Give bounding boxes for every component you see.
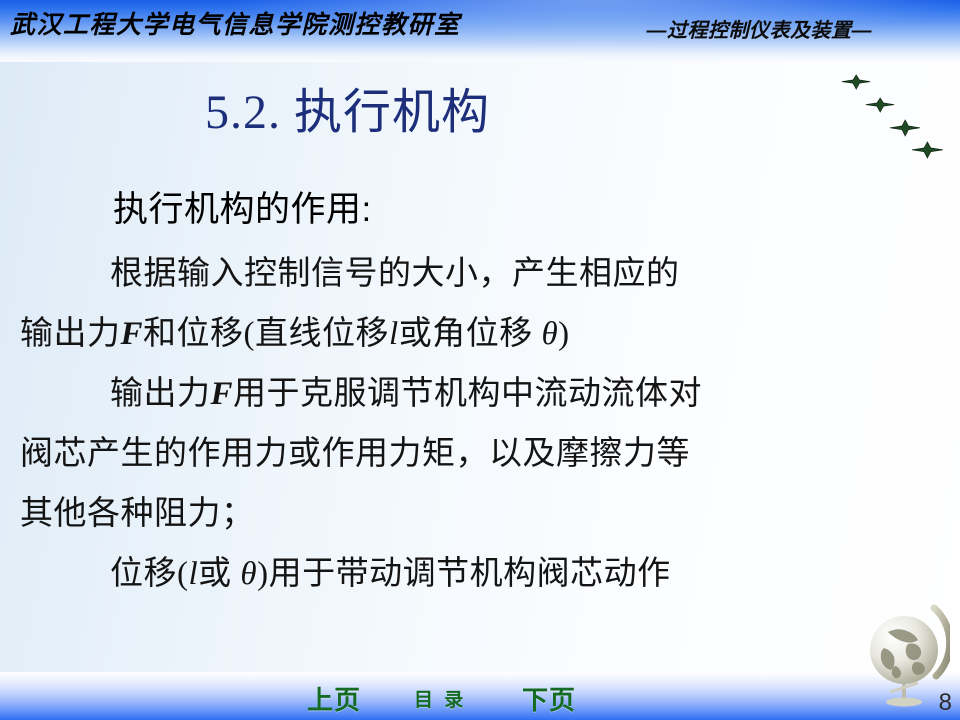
page-title: 5.2. 执行机构: [205, 72, 490, 142]
sparkle-icon: [912, 142, 943, 158]
sparkle-icon: [866, 98, 894, 112]
body-line-6: 位移(l或 θ)用于带动调节机构阀芯动作: [110, 558, 671, 591]
globe-icon: [864, 600, 950, 712]
body-line-3: 输出力F用于克服调节机构中流动流体对: [110, 378, 702, 411]
slide-navigation: 上页 目 录 下页: [0, 672, 960, 720]
body-line-1: 根据输入控制信号的大小，产生相应的: [110, 258, 680, 291]
slide-canvas: 武汉工程大学电气信息学院测控教研室 —过程控制仪表及装置— 5.2. 执行机构 …: [0, 0, 960, 720]
table-of-contents-button[interactable]: 目 录: [414, 685, 466, 712]
body-line-2: 输出力F和位移(直线位移l或角位移 θ): [20, 318, 570, 351]
prev-page-button[interactable]: 上页: [307, 680, 361, 717]
sparkle-icon: [890, 120, 920, 136]
sparkle-decoration-group: [832, 56, 960, 171]
sparkle-icon: [842, 75, 870, 89]
section-subheading: 执行机构的作用:: [113, 181, 372, 232]
body-line-5: 其他各种阻力；: [20, 498, 255, 531]
header-course-title: —过程控制仪表及装置—: [647, 14, 873, 43]
header-department-title: 武汉工程大学电气信息学院测控教研室: [10, 5, 461, 41]
next-page-button[interactable]: 下页: [522, 680, 576, 717]
page-number: 8: [939, 689, 952, 717]
body-line-4: 阀芯产生的作用力或作用力矩，以及摩擦力等: [20, 438, 690, 471]
